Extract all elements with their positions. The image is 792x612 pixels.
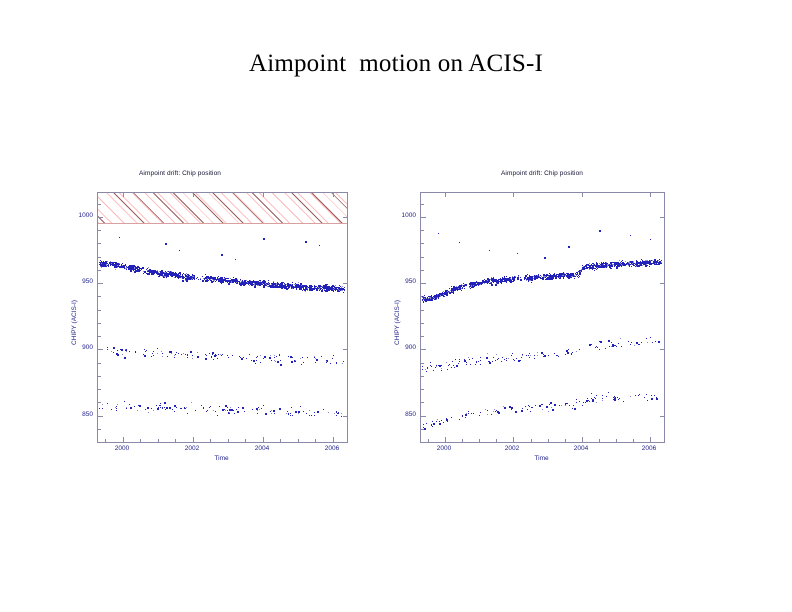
data-point-primary [623,262,624,263]
data-point-secondary [174,357,175,358]
data-point-secondary [221,355,222,356]
data-point-secondary [521,410,523,412]
data-point-secondary [432,426,433,427]
data-point-primary [454,286,455,287]
y-tick-minor [421,230,424,231]
data-point-primary [337,291,338,292]
data-point-primary [111,263,112,264]
data-point-primary [580,272,581,273]
data-point-primary [639,262,640,263]
data-point-secondary [271,410,272,411]
data-point-primary [282,287,283,288]
data-point-primary [220,281,221,282]
data-point-primary [435,295,436,296]
data-point-primary [282,284,283,285]
data-point-primary [474,286,475,287]
data-point-secondary [295,411,297,413]
data-point-primary [295,285,297,287]
data-point-secondary [273,410,275,412]
data-point-secondary [246,358,247,359]
y-tick-label: 850 [63,411,93,418]
data-point-primary [504,276,505,277]
data-point-secondary [542,404,543,405]
data-point-primary [531,282,532,283]
data-point-secondary [520,360,521,361]
data-point-primary [470,288,471,289]
x-tick-minor [140,439,141,442]
data-point-secondary [321,356,322,357]
data-point-primary [423,302,424,303]
data-point-secondary [122,354,123,355]
data-point-primary [129,267,130,268]
data-point-secondary [121,349,123,351]
data-point-primary [311,289,313,291]
data-point-primary [305,291,306,292]
data-point-secondary [454,367,455,368]
data-point-primary [121,267,122,268]
data-point-primary [589,263,590,264]
data-point-primary [427,297,428,298]
data-point-primary [182,276,183,277]
data-point-secondary [124,357,126,359]
data-point-primary [462,288,463,289]
data-point-secondary [609,346,610,347]
data-point-primary [186,273,187,274]
data-point-primary [529,275,530,276]
data-point-primary [139,267,140,268]
y-tick-minor [98,363,101,364]
data-point-primary [489,281,490,282]
data-point-primary [327,286,328,287]
data-point-primary [323,286,324,287]
data-point-primary [108,266,109,267]
data-point-secondary [504,407,506,409]
data-point-primary [131,265,132,266]
data-point-secondary [579,349,580,350]
data-point-secondary [341,416,342,417]
data-point-primary [231,282,232,283]
data-point-primary [583,267,584,268]
data-point-primary [504,281,505,282]
data-point-primary [633,265,634,266]
data-point-secondary [300,406,301,407]
x-tick-major-top [582,193,583,197]
data-point-primary [614,266,615,267]
data-point-secondary [107,347,108,348]
data-point-primary [475,285,476,286]
data-point-secondary [537,352,538,353]
data-point-secondary [529,357,530,358]
y-tick-minor [421,363,424,364]
data-point-primary [154,273,155,274]
data-point-secondary [422,366,423,367]
data-point-primary [243,283,244,284]
data-point-primary [500,281,502,283]
data-point-secondary [549,404,550,405]
data-point-secondary [338,413,339,414]
data-point-secondary [225,410,226,411]
data-point-primary [651,260,652,261]
data-point-primary [605,267,606,268]
data-point-primary [338,287,339,288]
data-point-primary [428,296,429,297]
data-point-primary [475,284,476,285]
data-point-primary [504,277,505,278]
data-point-primary [461,290,462,291]
data-point-primary [562,274,563,275]
data-point-primary [256,283,257,284]
data-point-secondary [222,409,224,411]
data-point-secondary [192,358,193,359]
data-point-secondary [117,350,118,351]
data-point-primary [449,288,450,289]
data-point-secondary [438,365,439,366]
data-point-primary [257,285,258,286]
data-point-primary [503,278,504,279]
data-point-primary [610,265,611,266]
data-point-secondary [595,347,596,348]
data-point-secondary [309,410,310,411]
data-point-secondary [288,413,289,414]
data-point-secondary [597,347,598,348]
data-point-secondary [448,365,449,366]
data-point-primary [518,276,519,277]
data-point-primary [327,288,328,289]
data-point-secondary [618,399,619,400]
data-point-primary [645,262,646,263]
data-point-secondary [550,402,552,404]
data-point-primary [100,260,101,261]
data-point-primary [550,274,551,275]
data-point-primary [338,289,339,290]
data-point-primary [342,290,343,291]
data-point-primary [215,281,216,282]
data-point-primary [565,274,566,275]
data-point-secondary [528,355,529,356]
data-point-primary [159,276,160,277]
data-point-primary [174,277,175,278]
data-point-primary [106,266,107,267]
data-point-primary [606,265,607,266]
data-point-primary [139,269,140,270]
data-point-secondary [239,356,240,357]
data-point-secondary [639,344,640,345]
data-point-primary [316,286,317,287]
data-point-primary [594,265,595,266]
data-point-secondary [326,362,327,363]
data-point-primary [197,277,198,278]
y-axis-title-left: CHIPY (ACIS-I) [71,299,78,344]
y-tick-minor [421,389,424,390]
x-tick-major-top [650,193,651,197]
data-point-primary [565,275,566,276]
data-point-primary [512,277,513,278]
data-point-secondary [655,341,656,342]
y-tick-label: 900 [386,344,416,351]
y-tick-major [421,416,426,417]
data-point-primary [175,276,176,277]
data-point-primary [112,264,114,266]
data-point-secondary [623,401,624,402]
data-point-primary [187,276,188,277]
data-point-primary [177,276,179,278]
data-point-primary [329,286,330,287]
data-point-primary [524,279,525,280]
x-tick-minor [428,439,429,442]
data-point-secondary [303,362,304,363]
data-point-secondary [157,408,159,410]
data-point-secondary [613,344,614,345]
data-point-primary [478,285,479,286]
data-point-primary [322,290,323,291]
data-point-primary [194,277,195,278]
data-point-secondary [229,412,230,413]
data-point-outlier [517,253,518,254]
data-point-secondary [302,357,303,358]
data-point-primary [546,275,547,276]
data-point-primary [183,278,184,279]
data-point-primary [302,290,303,291]
data-point-secondary [164,402,166,404]
data-point-secondary [184,408,185,409]
data-point-primary [469,284,470,285]
data-point-secondary [169,407,171,409]
data-point-primary [103,265,104,266]
data-point-secondary [343,361,344,362]
y-tick-major [98,283,103,284]
data-point-primary [212,279,213,280]
y-tick-minor [421,402,424,403]
data-point-primary [604,267,605,268]
data-point-secondary [441,365,442,366]
data-point-primary [310,285,312,287]
data-point-secondary [441,368,442,369]
data-point-primary [169,274,170,275]
y-tick-major-right [343,349,347,350]
data-point-secondary [487,410,488,411]
data-point-secondary [263,405,264,406]
data-point-primary [310,287,311,288]
data-point-primary [607,266,608,267]
data-point-primary [248,284,249,285]
data-point-primary [284,287,285,288]
data-point-secondary [589,401,590,402]
data-point-secondary [185,354,186,355]
data-point-secondary [314,356,315,357]
data-point-secondary [216,355,217,356]
x-tick-minor [548,439,549,442]
data-point-secondary [497,359,498,360]
data-point-secondary [485,409,486,410]
data-point-primary [133,270,134,271]
data-point-primary [620,262,621,263]
data-point-primary [545,275,546,276]
data-point-primary [280,287,281,288]
data-point-secondary [506,358,507,359]
data-point-primary [432,300,433,301]
data-point-primary [449,291,450,292]
data-point-primary [506,282,507,283]
y-axis-title-right: CHIPY (ACIS-I) [394,299,401,344]
data-point-primary [425,300,426,301]
data-point-secondary [593,399,594,400]
data-point-primary [107,261,108,262]
data-point-primary [331,290,332,291]
data-point-secondary [126,408,127,409]
data-point-secondary [425,369,426,370]
data-point-secondary [599,341,600,342]
data-point-secondary [213,359,214,360]
data-point-primary [571,277,572,278]
data-point-primary [640,265,641,266]
data-point-primary [438,294,439,295]
data-point-primary [333,289,334,290]
data-point-primary [314,288,315,289]
data-point-secondary [342,363,343,364]
data-point-secondary [205,358,207,360]
data-point-outlier [221,254,223,256]
data-point-primary [650,263,651,264]
data-point-secondary [529,353,530,354]
data-point-secondary [596,395,597,396]
data-point-primary [573,273,574,274]
data-point-secondary [256,360,257,361]
data-point-secondary [280,360,281,361]
data-point-secondary [561,405,562,406]
data-point-secondary [334,413,335,414]
data-point-primary [209,278,210,279]
data-point-primary [431,296,432,297]
data-point-secondary [509,406,511,408]
data-point-primary [284,288,285,289]
data-point-secondary [162,353,163,354]
data-point-primary [493,277,494,278]
data-point-secondary [565,354,566,355]
data-point-secondary [172,409,173,410]
data-point-primary [434,298,435,299]
data-point-primary [293,288,294,289]
data-point-secondary [275,361,276,362]
data-point-secondary [234,413,235,414]
data-point-primary [451,286,452,287]
x-tick-label: 2000 [424,445,464,452]
data-point-secondary [274,355,275,356]
x-tick-major [445,437,446,442]
data-point-primary [276,284,277,285]
data-point-secondary [116,353,118,355]
data-point-primary [327,284,328,285]
data-point-primary [233,282,234,283]
data-point-secondary [576,399,577,400]
data-point-primary [227,282,228,283]
data-point-primary [488,279,489,280]
data-point-secondary [459,361,460,362]
data-point-primary [553,275,554,276]
data-point-primary [548,276,549,277]
data-point-primary [447,294,448,295]
data-point-primary [448,292,449,293]
data-point-secondary [260,355,261,356]
data-point-secondary [566,403,567,404]
data-point-secondary [654,395,655,396]
data-point-secondary [475,364,476,365]
data-point-secondary [502,357,503,358]
data-point-primary [237,282,238,283]
data-point-primary [265,283,266,284]
data-point-secondary [491,414,492,415]
data-point-primary [173,274,174,275]
data-point-primary [495,284,497,286]
data-point-primary [228,283,230,285]
data-point-secondary [543,356,544,357]
data-point-secondary [566,350,568,352]
data-point-primary [661,263,662,264]
data-point-secondary [521,357,522,358]
data-point-secondary [479,415,480,416]
data-point-primary [660,262,661,263]
data-point-secondary [290,415,291,416]
data-point-primary [622,263,623,264]
data-point-primary [102,266,103,267]
data-point-primary [539,276,540,277]
data-point-secondary [427,367,428,368]
data-point-secondary [646,338,647,339]
data-point-primary [278,286,279,287]
data-point-primary [173,273,174,274]
y-tick-label: 900 [63,344,93,351]
data-point-primary [429,298,430,299]
data-point-primary [106,264,107,265]
data-point-secondary [480,357,481,358]
data-point-primary [182,274,183,275]
data-point-primary [123,267,124,268]
data-point-primary [343,292,344,293]
data-point-primary [599,265,600,266]
data-point-primary [341,290,342,291]
x-tick-major-top [123,193,124,197]
data-point-primary [261,284,262,285]
data-point-primary [125,264,126,265]
data-point-secondary [276,356,277,357]
data-point-primary [100,265,101,266]
data-point-primary [492,280,494,282]
data-point-secondary [181,354,182,355]
data-point-primary [149,272,150,273]
data-point-primary [132,267,133,268]
data-point-primary [598,267,599,268]
data-point-primary [236,282,237,283]
data-point-primary [642,263,643,264]
data-point-primary [270,287,271,288]
data-point-primary [205,277,206,278]
x-tick-label: 2006 [629,445,669,452]
data-point-primary [646,261,647,262]
data-point-secondary [256,357,257,358]
y-tick-major-right [660,283,664,284]
data-point-secondary [436,421,437,422]
data-point-primary [323,288,324,289]
data-point-primary [163,275,164,276]
data-point-primary [306,286,307,287]
data-point-primary [339,291,340,292]
data-point-primary [614,263,615,264]
data-point-primary [509,281,510,282]
data-point-primary [618,262,619,263]
data-point-primary [656,263,657,264]
data-point-primary [629,263,630,264]
data-point-primary [186,280,188,282]
data-point-primary [312,286,313,287]
